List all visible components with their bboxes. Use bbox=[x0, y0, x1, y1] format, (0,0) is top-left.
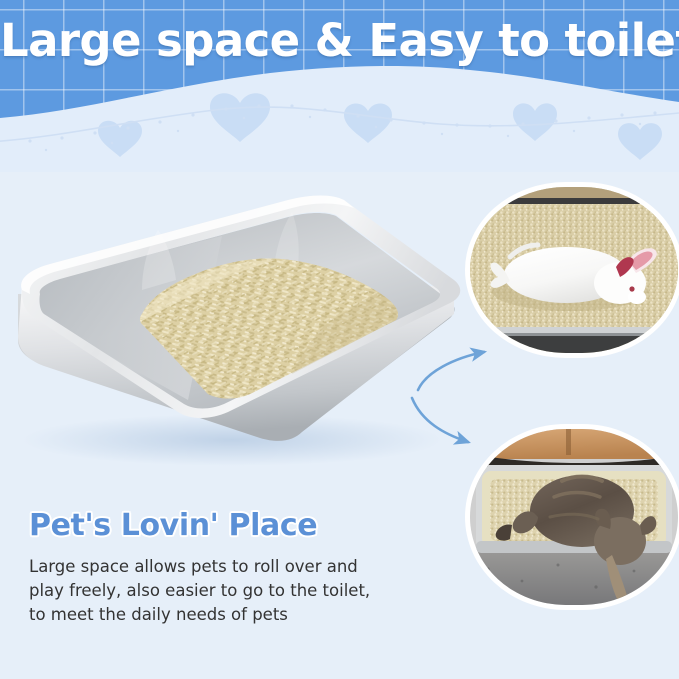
body-line-3: to meet the daily needs of pets bbox=[29, 603, 429, 627]
header-title-wrap: Large space & Easy to toilet bbox=[0, 14, 679, 67]
header-banner: Large space & Easy to toilet bbox=[0, 0, 679, 172]
section-body: Large space allows pets to roll over and… bbox=[29, 555, 429, 627]
copy-block: Pet's Lovin' Place Large space allows pe… bbox=[29, 508, 449, 627]
inset-photo-rabbit bbox=[470, 187, 678, 353]
arrow-connectors-svg bbox=[398, 338, 528, 470]
rabbit-photo-illustration bbox=[470, 187, 678, 353]
body-line-2: play freely, also easier to go to the to… bbox=[29, 579, 429, 603]
body-line-1: Large space allows pets to roll over and bbox=[29, 555, 429, 579]
section-heading: Pet's Lovin' Place bbox=[29, 508, 449, 543]
arrow-to-rabbit bbox=[418, 352, 484, 390]
product-infographic: Large space & Easy to toilet bbox=[0, 0, 679, 679]
arrow-to-cat bbox=[412, 398, 468, 442]
page-title: Large space & Easy to toilet bbox=[0, 14, 679, 67]
arrow-connectors bbox=[398, 338, 528, 470]
wave-shape bbox=[0, 66, 679, 172]
